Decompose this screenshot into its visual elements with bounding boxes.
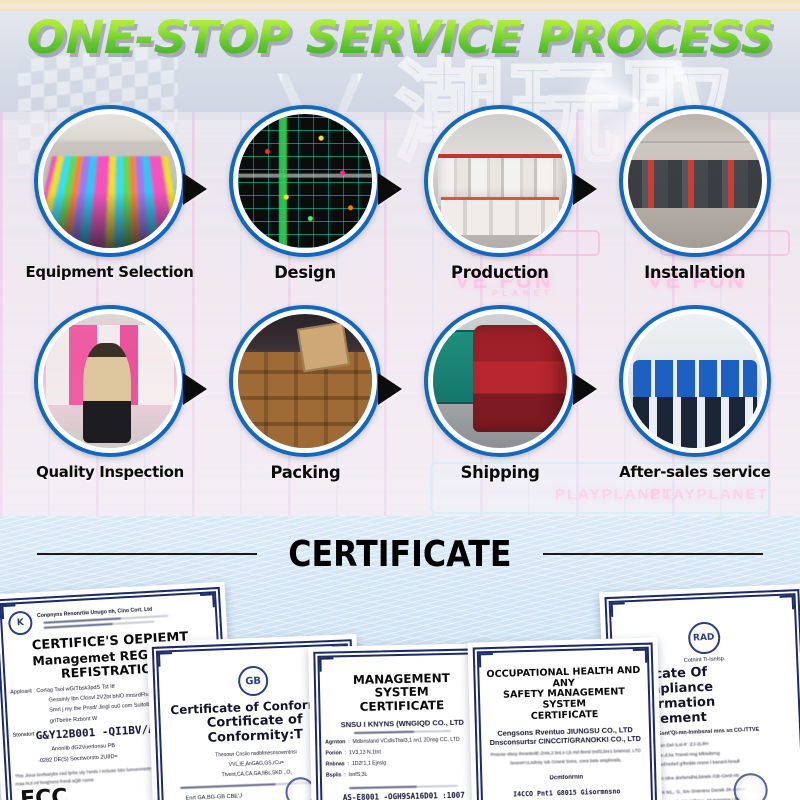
process-arrow-icon [378,173,402,205]
process-arrow-icon [183,373,207,405]
process-step-shipping[interactable]: Shipping [400,305,600,495]
step-photo-frame [34,105,186,257]
frame-corner-icon [479,653,493,667]
step-photo-frame [619,105,771,257]
certifier-logo-icon: RAD [687,621,720,654]
process-step-quality-inspection[interactable]: Quality Inspection [10,305,210,495]
step-photo-frame [229,305,381,457]
certificate-heading: CERTIFICATE [0,534,800,574]
field-value: Mdlsnsland VCsllsTbsl3,1 nn1 2Dnsg CC, L… [353,737,460,745]
page-root: 潮玩取 球II PLANET VE FUN PLANET 球II PLANET … [0,0,800,800]
step-photo [628,114,762,248]
step-photo [628,314,762,448]
step-label: Design [274,263,336,283]
process-row-1: Equipment Selection Design Production [0,105,800,295]
certificate-company: SNSU I KNYNS (WNGIQD CO., LTD [325,718,480,730]
fcc-mark-icon: FCC [20,785,69,800]
process-step-production[interactable]: Production [400,105,600,295]
step-photo [433,114,567,248]
frame-corner-icon [319,657,333,671]
field-value: 1V3,13 N,1tnt [349,750,381,757]
process-step-equipment-selection[interactable]: Equipment Selection [10,105,210,295]
field-value: 1D2l'1,1 Ejnslg [352,761,387,768]
step-photo-frame [424,105,576,257]
field-key: Bsplis [326,772,342,778]
process-arrow-icon [573,173,597,205]
process-step-installation[interactable]: Installation [595,105,795,295]
frame-corner-icon [633,649,647,663]
step-label: Packing [270,463,340,483]
field-value: Dcmfonrnin [486,773,646,783]
process-arrow-icon [378,373,402,405]
step-photo-frame [34,305,186,457]
frame-corner-icon [780,595,795,610]
step-photo [238,114,372,248]
field-key: Porion [325,751,342,757]
certificate-standard-code: AS-E8001 -OGH9SA16D01 :1007 [326,790,481,800]
process-arrow-icon [573,373,597,405]
certificate-standard-code: I4CCO Pnt1 G8015 Gisormnsno [487,787,647,799]
heading-rule-right [543,553,763,555]
field-value: lsnfS,3L [349,772,368,778]
field-key: Rnbnas [326,761,345,767]
step-label: After-sales service [619,463,770,481]
process-step-design[interactable]: Design [205,105,405,295]
process-row-2: Quality Inspection Packing Shipping [0,305,800,495]
certificate-heading-line: MANAGEMENT SYSTEM [324,671,480,701]
process-step-packing[interactable]: Packing [205,305,405,495]
step-label: Installation [644,263,745,283]
step-photo [43,314,177,448]
top-cream-strip [0,0,800,11]
certificate-card-occupational-health[interactable]: OCCUPATIONAL HEALTH AND ANY SAFETY MANAG… [468,637,663,800]
step-photo [433,314,567,448]
step-photo-frame [424,305,576,457]
process-arrow-icon [183,173,207,205]
certificate-heading-line: CERTIFICATE [324,698,479,715]
process-step-after-sales-service[interactable]: After-sales service [595,305,795,495]
heading-rule-left [37,553,257,555]
certifier-logo-icon: GB [238,665,269,696]
step-label: Quality Inspection [36,463,184,481]
page-title: ONE-STOP SERVICE PROCESS [0,15,800,60]
frame-corner-icon [158,652,173,667]
frame-corner-icon [611,602,626,617]
field-key: Apploant [10,688,32,695]
step-label: Production [451,263,549,283]
step-photo-frame [619,305,771,457]
process-section: 潮玩取 球II PLANET VE FUN PLANET 球II PLANET … [0,0,800,516]
step-photo [43,114,177,248]
frame-corner-icon [1,604,16,619]
step-label: Equipment Selection [26,263,194,281]
certificate-title: CERTIFICATE [288,534,511,575]
field-key: Agrnton [325,740,345,746]
step-photo-frame [229,105,381,257]
step-photo [238,314,372,448]
step-label: Shipping [461,463,540,483]
